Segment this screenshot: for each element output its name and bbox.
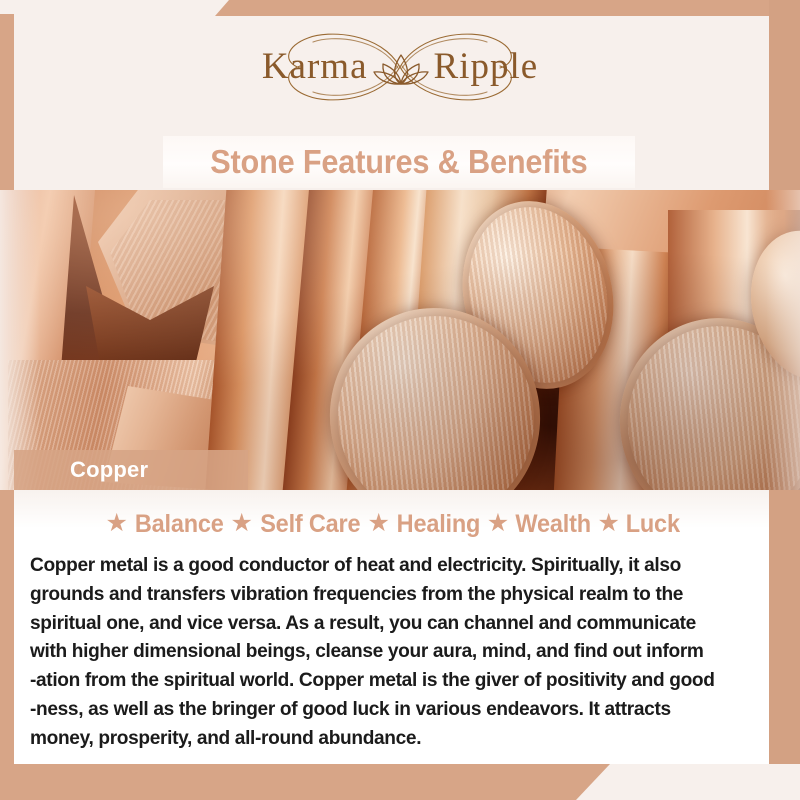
feature-item-luck: Luck: [626, 510, 680, 539]
description-line: grounds and transfers vibration frequenc…: [30, 580, 735, 609]
content-card: ★ Balance ★ Self Care ★ Healing ★ Wealth…: [14, 490, 769, 764]
feature-item-self-care: Self Care: [260, 510, 360, 539]
feature-item-balance: Balance: [135, 510, 224, 539]
brand-logo: Karma Ripple: [220, 24, 580, 110]
lotus-icon: [372, 46, 430, 88]
stone-name-tag: Copper: [14, 450, 248, 490]
description-line: with higher dimensional beings, cleanse …: [30, 637, 735, 666]
section-title-banner: Stone Features & Benefits: [163, 136, 635, 188]
star-icon: ★: [102, 511, 132, 536]
description-line: spiritual one, and vice versa. As a resu…: [30, 609, 735, 638]
page-title: Stone Features & Benefits: [210, 143, 587, 181]
hero-image-copper-rods: [0, 190, 800, 490]
star-icon: ★: [594, 511, 624, 536]
description-line: money, prosperity, and all-round abundan…: [30, 724, 735, 753]
decor-band-bottom: [0, 764, 610, 800]
brand-name-left: Karma: [262, 48, 368, 85]
feature-list: ★ Balance ★ Self Care ★ Healing ★ Wealth…: [14, 510, 769, 539]
stone-name-label: Copper: [70, 457, 148, 483]
brand-name-right: Ripple: [434, 48, 539, 85]
star-icon: ★: [483, 511, 513, 536]
feature-item-healing: Healing: [397, 510, 481, 539]
description-line: -ness, as well as the bringer of good lu…: [30, 695, 735, 724]
feature-item-wealth: Wealth: [516, 510, 591, 539]
star-icon: ★: [363, 511, 393, 536]
description-line: Copper metal is a good conductor of heat…: [30, 551, 735, 580]
stone-description: Copper metal is a good conductor of heat…: [30, 551, 735, 753]
description-line: -ation from the spiritual world. Copper …: [30, 666, 735, 695]
brand-header: Karma Ripple: [0, 0, 800, 133]
star-icon: ★: [226, 511, 256, 536]
